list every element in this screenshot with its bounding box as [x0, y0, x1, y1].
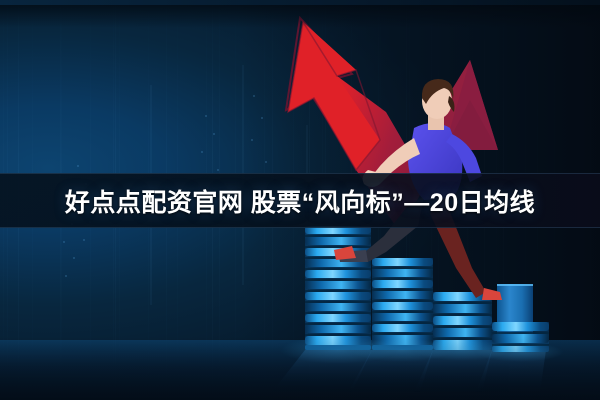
- page-title: 好点点配资官网 股票“风向标”—20日均线: [65, 183, 535, 219]
- top-edge-strip: [0, 0, 600, 5]
- title-band: 好点点配资官网 股票“风向标”—20日均线: [0, 173, 600, 228]
- banner-image: 好点点配资官网 股票“风向标”—20日均线: [0, 0, 600, 400]
